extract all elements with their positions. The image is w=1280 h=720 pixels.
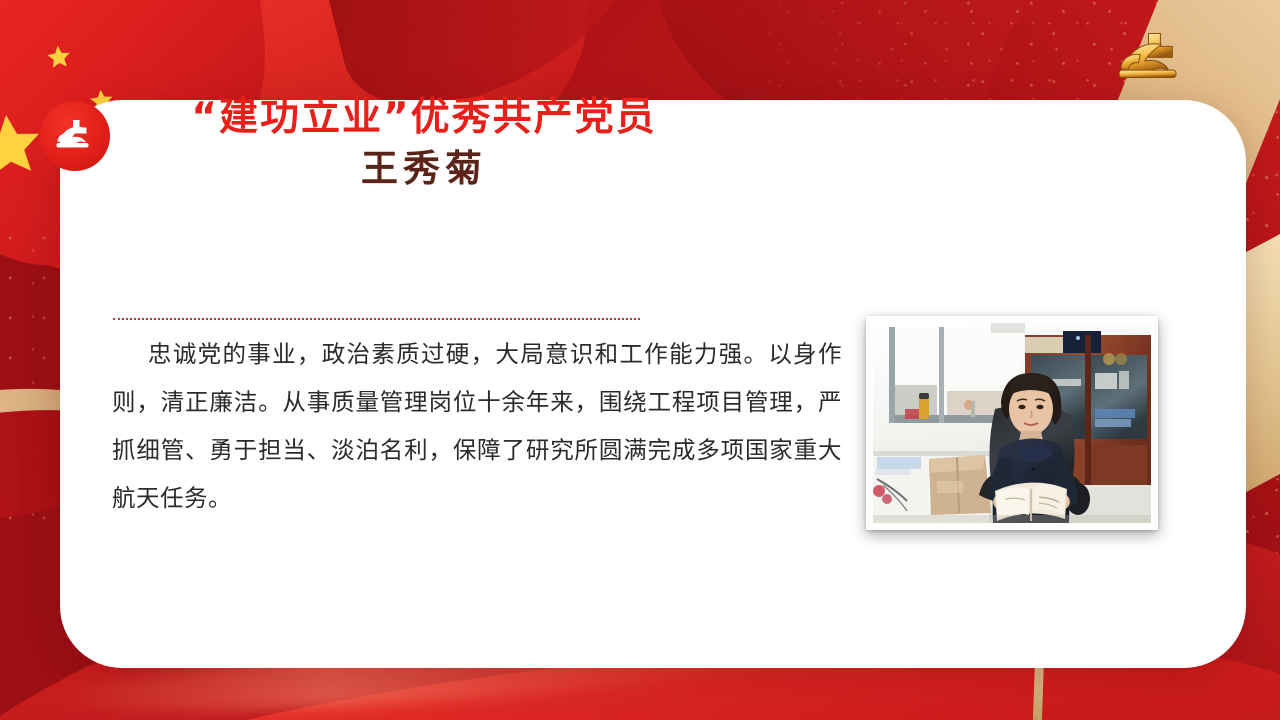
page-title: “建功立业”优秀共产党员 [148, 95, 700, 141]
header: “建功立业”优秀共产党员 王秀菊 [40, 95, 700, 192]
title-block: “建功立业”优秀共产党员 王秀菊 [148, 95, 700, 192]
photo-frame [866, 316, 1158, 530]
slide-root: “建功立业”优秀共产党员 王秀菊 忠诚党的事业，政治素质过硬，大局意识和工作能力… [0, 0, 1280, 720]
person-photo [873, 323, 1151, 523]
dotted-divider [113, 318, 640, 320]
person-name: 王秀菊 [148, 144, 700, 192]
body-paragraph: 忠诚党的事业，政治素质过硬，大局意识和工作能力强。以身作则，清正廉洁。从事质量管… [112, 330, 842, 522]
party-emblem-badge-icon [40, 101, 110, 171]
party-emblem-gold-icon [1108, 28, 1200, 94]
